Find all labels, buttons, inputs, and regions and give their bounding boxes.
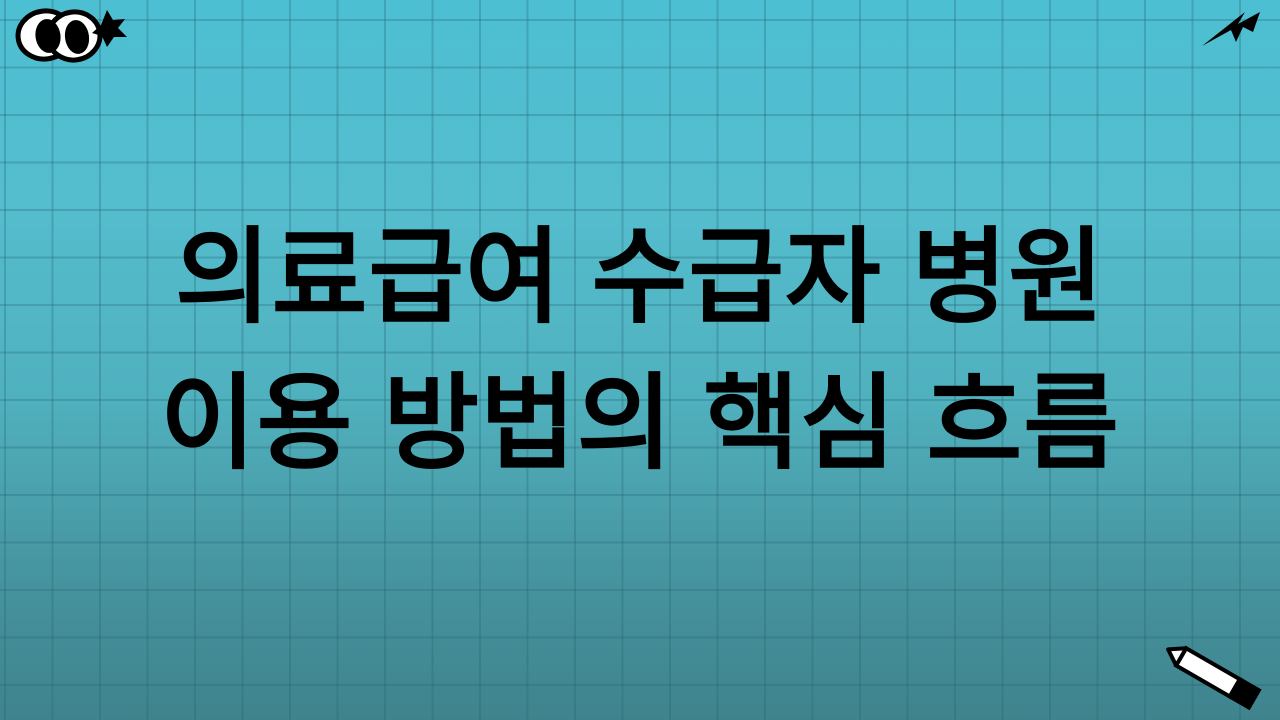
- thumbnail-canvas: 의료급여 수급자 병원 이용 방법의 핵심 흐름: [0, 0, 1280, 720]
- eyes-shape: [15, 7, 103, 63]
- title-line-2: 이용 방법의 핵심 흐름: [40, 351, 1240, 497]
- arrow-cursor-icon: [1198, 2, 1264, 54]
- title-line-1: 의료급여 수급자 병원: [40, 205, 1240, 351]
- page-title: 의료급여 수급자 병원 이용 방법의 핵심 흐름: [0, 205, 1280, 497]
- pencil-icon: [1160, 638, 1276, 716]
- googly-eyes-logo: [8, 2, 138, 70]
